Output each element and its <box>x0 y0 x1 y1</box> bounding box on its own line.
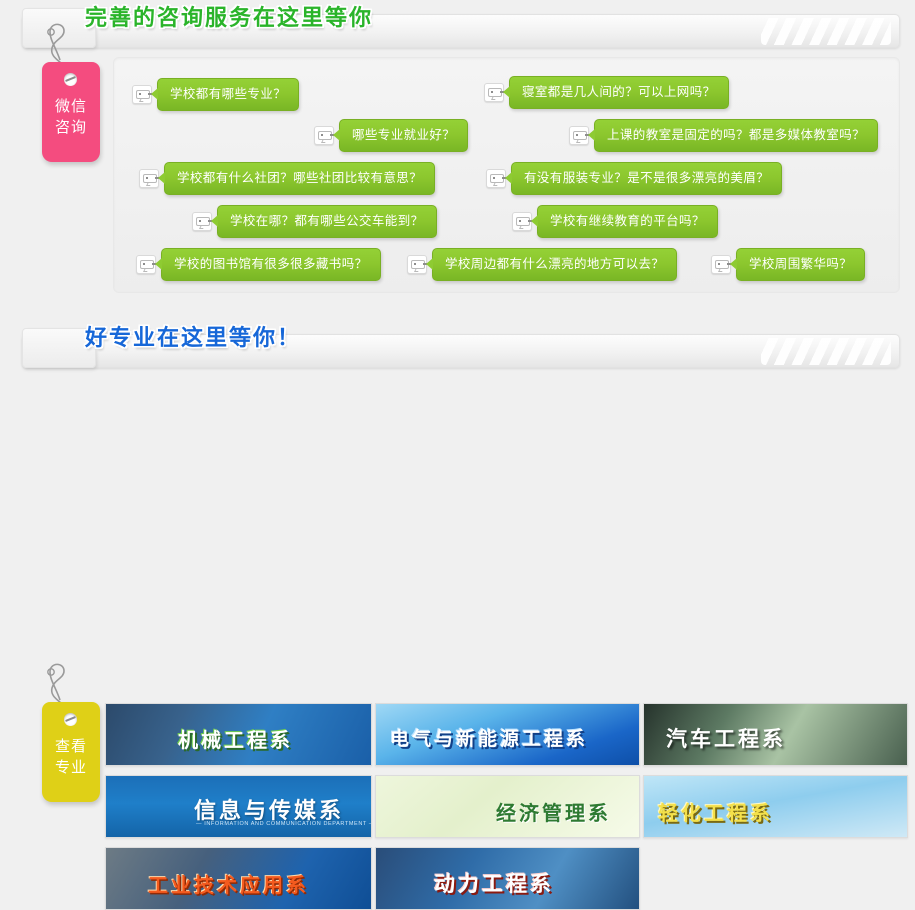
major-banner-label: 轻化工程系 <box>658 797 773 826</box>
major-banner-label: 经济管理系 <box>496 797 611 826</box>
header-stripes-decoration <box>761 338 891 365</box>
consult-section: 完善的咨询服务在这里等你 微信 咨询 学校都有哪些专业？寝室都是几人间的？可以上… <box>0 0 915 318</box>
major-banner-automotive-engineering[interactable]: 汽车工程系 <box>643 703 908 766</box>
chat-question-row[interactable]: 有没有服装专业？是不是很多漂亮的美眉？ <box>486 162 782 195</box>
message-bubble-icon <box>407 255 427 274</box>
major-banner-information-media[interactable]: 信息与传媒系— INFORMATION AND COMMUNICATION DE… <box>105 775 372 838</box>
tag-hole-icon <box>64 73 77 86</box>
major-banner-mechanical-engineering[interactable]: 机械工程系 <box>105 703 372 766</box>
major-banner-label: 电气与新能源工程系 <box>390 724 588 751</box>
major-banner-label: 工业技术应用系 <box>148 869 309 898</box>
header-stripes-decoration <box>761 18 891 45</box>
message-bubble-icon <box>486 169 506 188</box>
message-bubble-icon <box>711 255 731 274</box>
chat-question-row[interactable]: 学校周围繁华吗？ <box>711 248 865 281</box>
chat-question-bubble[interactable]: 学校的图书馆有很多很多藏书吗？ <box>161 248 381 281</box>
chat-question-row[interactable]: 学校在哪？都有哪些公交车能到？ <box>192 205 437 238</box>
major-banner-subtitle: — INFORMATION AND COMMUNICATION DEPARTME… <box>196 821 372 827</box>
chat-question-row[interactable]: 学校周边都有什么漂亮的地方可以去？ <box>407 248 677 281</box>
chat-question-bubble[interactable]: 学校都有哪些专业？ <box>157 78 299 111</box>
majors-tag-line2: 专业 <box>42 757 100 778</box>
majors-tag-line1: 查看 <box>42 736 100 757</box>
message-bubble-icon <box>512 212 532 231</box>
consult-section-title: 完善的咨询服务在这里等你 <box>85 1 373 35</box>
major-banner-label: 机械工程系 <box>178 724 293 753</box>
major-banner-industrial-technology-application[interactable]: 工业技术应用系 <box>105 847 372 910</box>
wechat-tag-body[interactable]: 微信 咨询 <box>42 62 100 162</box>
chat-question-row[interactable]: 上课的教室是固定的吗？都是多媒体教室吗？ <box>569 119 878 152</box>
chat-question-bubble[interactable]: 哪些专业就业好？ <box>339 119 468 152</box>
chat-question-bubble[interactable]: 上课的教室是固定的吗？都是多媒体教室吗？ <box>594 119 878 152</box>
chat-question-bubble[interactable]: 学校有继续教育的平台吗？ <box>537 205 718 238</box>
majors-section-title: 好专业在这里等你！ <box>85 321 301 355</box>
message-bubble-icon <box>139 169 159 188</box>
chat-question-row[interactable]: 学校有继续教育的平台吗？ <box>512 205 718 238</box>
chat-question-row[interactable]: 学校的图书馆有很多很多藏书吗？ <box>136 248 381 281</box>
major-banner-light-chemical-engineering[interactable]: 轻化工程系 <box>643 775 908 838</box>
message-bubble-icon <box>192 212 212 231</box>
chat-question-row[interactable]: 寝室都是几人间的？可以上网吗？ <box>484 76 729 109</box>
majors-section: 好专业在这里等你！ 查看 专业 机械工程系电气与新能源工程系汽车工程系信息与传媒… <box>0 320 915 613</box>
message-bubble-icon <box>569 126 589 145</box>
major-banner-electrical-new-energy-engineering[interactable]: 电气与新能源工程系 <box>375 703 640 766</box>
wechat-tag-line2: 咨询 <box>42 117 100 138</box>
chat-question-row[interactable]: 哪些专业就业好？ <box>314 119 468 152</box>
major-banner-label: 动力工程系 <box>434 868 554 898</box>
chat-question-row[interactable]: 学校都有哪些专业？ <box>132 78 299 111</box>
majors-tag-body[interactable]: 查看 专业 <box>42 702 100 802</box>
message-bubble-icon <box>132 85 152 104</box>
chat-question-bubble[interactable]: 寝室都是几人间的？可以上网吗？ <box>509 76 729 109</box>
chat-question-bubble[interactable]: 有没有服装专业？是不是很多漂亮的美眉？ <box>511 162 782 195</box>
message-bubble-icon <box>136 255 156 274</box>
message-bubble-icon <box>314 126 334 145</box>
major-banner-power-engineering[interactable]: 动力工程系 <box>375 847 640 910</box>
chat-question-bubble[interactable]: 学校都有什么社团？哪些社团比较有意思？ <box>164 162 435 195</box>
chat-question-bubble[interactable]: 学校周边都有什么漂亮的地方可以去？ <box>432 248 677 281</box>
chat-question-bubble[interactable]: 学校在哪？都有哪些公交车能到？ <box>217 205 437 238</box>
chat-question-bubble[interactable]: 学校周围繁华吗？ <box>736 248 865 281</box>
major-banner-label: 汽车工程系 <box>666 723 786 753</box>
chat-questions-panel: 学校都有哪些专业？寝室都是几人间的？可以上网吗？哪些专业就业好？上课的教室是固定… <box>113 57 900 293</box>
wechat-tag-line1: 微信 <box>42 96 100 117</box>
chat-question-row[interactable]: 学校都有什么社团？哪些社团比较有意思？ <box>139 162 435 195</box>
message-bubble-icon <box>484 83 504 102</box>
major-banner-economic-management[interactable]: 经济管理系 <box>375 775 640 838</box>
tag-hole-icon <box>64 713 77 726</box>
